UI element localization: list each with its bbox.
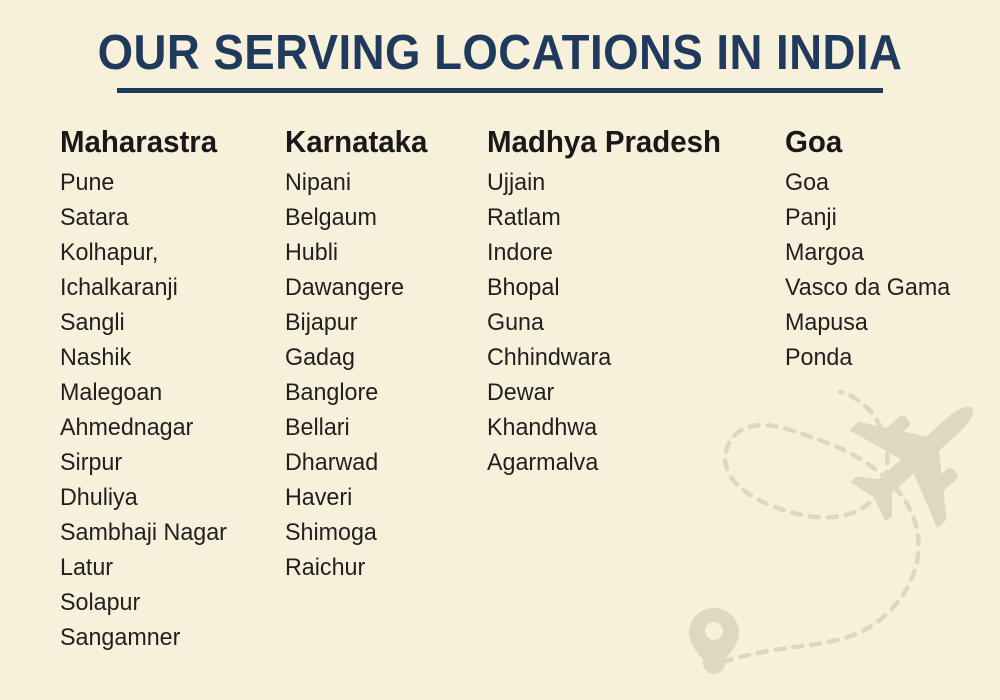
city-item: Indore [487, 235, 768, 270]
title-underline [117, 88, 883, 93]
state-column-goa: Goa Goa Panji Margoa Vasco da Gama Mapus… [785, 122, 995, 375]
city-item: Sirpur [60, 445, 273, 480]
city-item: Agarmalva [487, 445, 768, 480]
page-title: OUR SERVING LOCATIONS IN INDIA [35, 28, 965, 79]
city-item: Gadag [285, 340, 479, 375]
city-item: Dawangere [285, 270, 479, 305]
city-item: Banglore [285, 375, 479, 410]
state-heading: Madhya Pradesh [487, 122, 763, 162]
city-item: Hubli [285, 235, 479, 270]
state-heading: Goa [785, 122, 985, 162]
city-item: Raichur [285, 550, 479, 585]
title-block: OUR SERVING LOCATIONS IN INDIA [0, 28, 1000, 93]
state-heading: Karnataka [285, 122, 475, 162]
city-item: Bijapur [285, 305, 479, 340]
city-item: Kolhapur, [60, 235, 273, 270]
city-item: Goa [785, 165, 989, 200]
city-item: Dhuliya [60, 480, 273, 515]
state-column-madhya-pradesh: Madhya Pradesh Ujjain Ratlam Indore Bhop… [487, 122, 777, 480]
city-item: Ahmednagar [60, 410, 273, 445]
city-item: Shimoga [285, 515, 479, 550]
city-item: Ujjain [487, 165, 768, 200]
city-list: Nipani Belgaum Hubli Dawangere Bijapur G… [285, 165, 485, 585]
state-heading: Maharastra [60, 122, 269, 162]
city-item: Pune [60, 165, 273, 200]
city-item: Dharwad [285, 445, 479, 480]
city-item: Margoa [785, 235, 989, 270]
city-item: Haveri [285, 480, 479, 515]
locations-columns: Maharastra Pune Satara Kolhapur, Ichalka… [0, 122, 1000, 682]
city-item: Dewar [487, 375, 768, 410]
city-item: Mapusa [785, 305, 989, 340]
state-column-karnataka: Karnataka Nipani Belgaum Hubli Dawangere… [285, 122, 485, 585]
city-list: Goa Panji Margoa Vasco da Gama Mapusa Po… [785, 165, 995, 375]
poster-canvas: OUR SERVING LOCATIONS IN INDIA Maharastr… [0, 0, 1000, 700]
city-item: Ratlam [487, 200, 768, 235]
city-list: Pune Satara Kolhapur, Ichalkaranji Sangl… [60, 165, 280, 655]
city-item: Latur [60, 550, 273, 585]
city-item: Guna [487, 305, 768, 340]
city-item: Belgaum [285, 200, 479, 235]
state-column-maharastra: Maharastra Pune Satara Kolhapur, Ichalka… [60, 122, 280, 655]
city-item: Ichalkaranji [60, 270, 273, 305]
city-item: Bellari [285, 410, 479, 445]
city-item: Sambhaji Nagar [60, 515, 273, 550]
city-item: Bhopal [487, 270, 768, 305]
city-item: Vasco da Gama [785, 270, 989, 305]
city-item: Khandhwa [487, 410, 768, 445]
city-list: Ujjain Ratlam Indore Bhopal Guna Chhindw… [487, 165, 777, 480]
city-item: Nashik [60, 340, 273, 375]
city-item: Satara [60, 200, 273, 235]
city-item: Ponda [785, 340, 989, 375]
city-item: Sangamner [60, 620, 273, 655]
city-item: Panji [785, 200, 989, 235]
city-item: Sangli [60, 305, 273, 340]
city-item: Nipani [285, 165, 479, 200]
city-item: Malegoan [60, 375, 273, 410]
city-item: Solapur [60, 585, 273, 620]
city-item: Chhindwara [487, 340, 768, 375]
